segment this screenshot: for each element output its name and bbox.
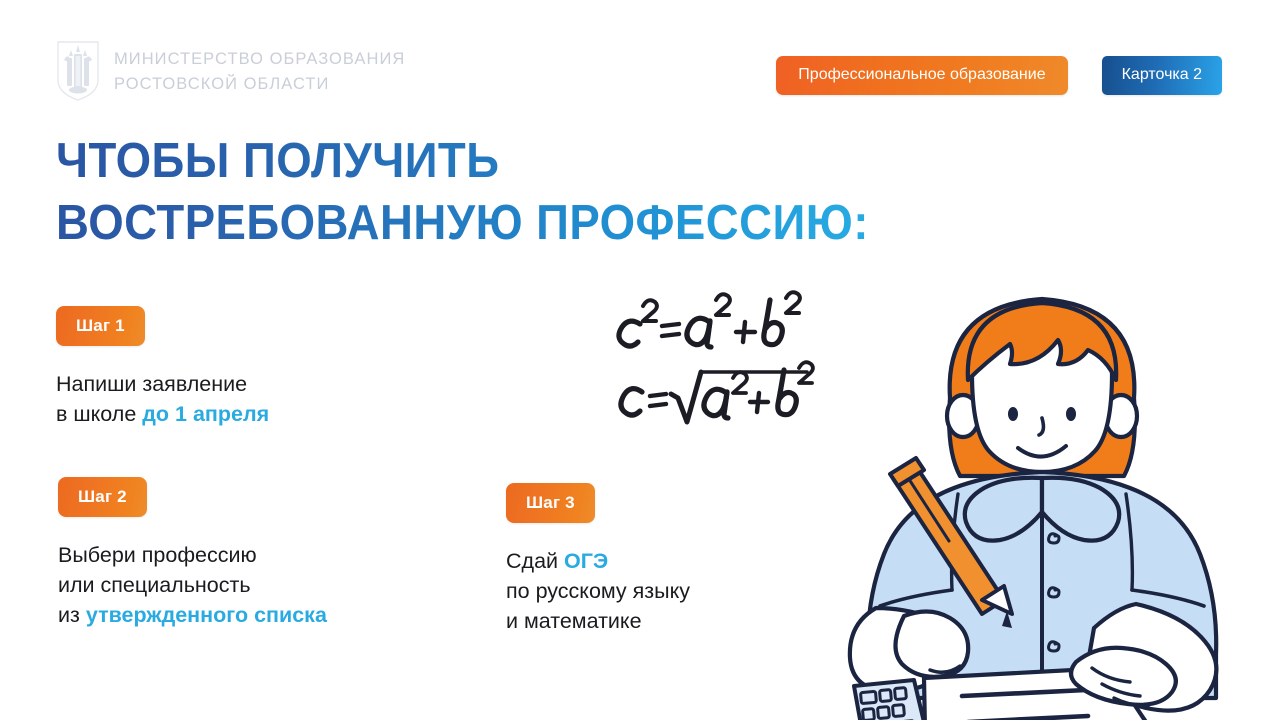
girl-writing-exam-illustration — [846, 268, 1238, 720]
step-2: Шаг 2 Выбери профессию или специальность… — [58, 477, 327, 630]
step-2-text: Выбери профессию или специальность из ут… — [58, 540, 327, 630]
step-3-text-before: Сдай — [506, 549, 564, 573]
step-2-badge: Шаг 2 — [58, 477, 147, 517]
ministry-line-2: РОСТОВСКОЙ ОБЛАСТИ — [114, 74, 405, 95]
step-3-text: Сдай ОГЭ по русскому языку и математике — [506, 546, 690, 636]
step-3: Шаг 3 Сдай ОГЭ по русскому языку и матем… — [506, 483, 690, 636]
topic-badge: Профессиональное образование — [776, 56, 1067, 95]
rostov-coat-of-arms-icon — [56, 40, 100, 102]
step-1-badge: Шаг 1 — [56, 306, 145, 346]
card-number-badge: Карточка 2 — [1102, 56, 1222, 95]
page-title: ЧТОБЫ ПОЛУЧИТЬ ВОСТРЕБОВАННУЮ ПРОФЕССИЮ: — [56, 130, 1056, 254]
step-2-highlight: утвержденного списка — [86, 603, 327, 627]
page-title-line-1: ЧТОБЫ ПОЛУЧИТЬ — [56, 130, 986, 192]
header-badges: Профессиональное образование Карточка 2 — [776, 56, 1222, 95]
step-1-text: Напиши заявление в школе до 1 апреля — [56, 369, 269, 429]
ministry-brand: МИНИСТЕРСТВО ОБРАЗОВАНИЯ РОСТОВСКОЙ ОБЛА… — [56, 40, 405, 102]
illustration-drawing — [846, 268, 1238, 720]
pythagorean-theorem-formula — [612, 288, 862, 428]
ministry-line-1: МИНИСТЕРСТВО ОБРАЗОВАНИЯ — [114, 49, 405, 70]
slide-canvas: МИНИСТЕРСТВО ОБРАЗОВАНИЯ РОСТОВСКОЙ ОБЛА… — [0, 0, 1280, 720]
ministry-name: МИНИСТЕРСТВО ОБРАЗОВАНИЯ РОСТОВСКОЙ ОБЛА… — [114, 47, 405, 94]
eye-right — [1066, 407, 1076, 421]
step-3-text-after: по русскому языку и математике — [506, 579, 690, 633]
step-1: Шаг 1 Напиши заявление в школе до 1 апре… — [56, 306, 269, 429]
step-1-highlight: до 1 апреля — [142, 402, 269, 426]
formula-drawing — [612, 288, 862, 428]
page-title-line-2: ВОСТРЕБОВАННУЮ ПРОФЕССИЮ: — [56, 192, 986, 254]
eye-left — [1008, 407, 1018, 421]
step-3-badge: Шаг 3 — [506, 483, 595, 523]
step-3-highlight: ОГЭ — [564, 549, 608, 573]
